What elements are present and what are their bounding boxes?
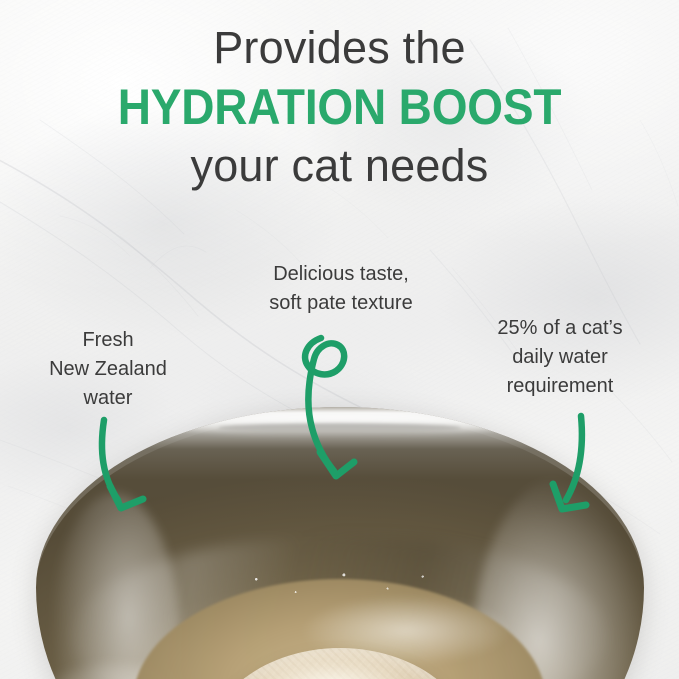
callout-delicious-taste: Delicious taste, soft pate texture — [236, 260, 446, 318]
broth-bubbles — [230, 562, 449, 605]
stainless-steel-bowl — [36, 407, 644, 679]
product-photo-bowl — [0, 379, 679, 679]
bowl-rim-shine — [181, 413, 497, 437]
headline-line-2-accent: HYDRATION BOOST — [27, 76, 652, 138]
headline-line-3: your cat needs — [0, 140, 679, 192]
product-marketing-image: Provides the HYDRATION BOOST your cat ne… — [0, 0, 679, 679]
bowl-rim-shadow — [218, 423, 461, 432]
headline: Provides the HYDRATION BOOST your cat ne… — [0, 22, 679, 192]
pate-patty — [206, 648, 474, 679]
headline-line-1: Provides the — [0, 22, 679, 74]
callout-daily-water-requirement: 25% of a cat’s daily water requirement — [462, 314, 658, 401]
callout-fresh-new-zealand-water: Fresh New Zealand water — [18, 326, 198, 413]
